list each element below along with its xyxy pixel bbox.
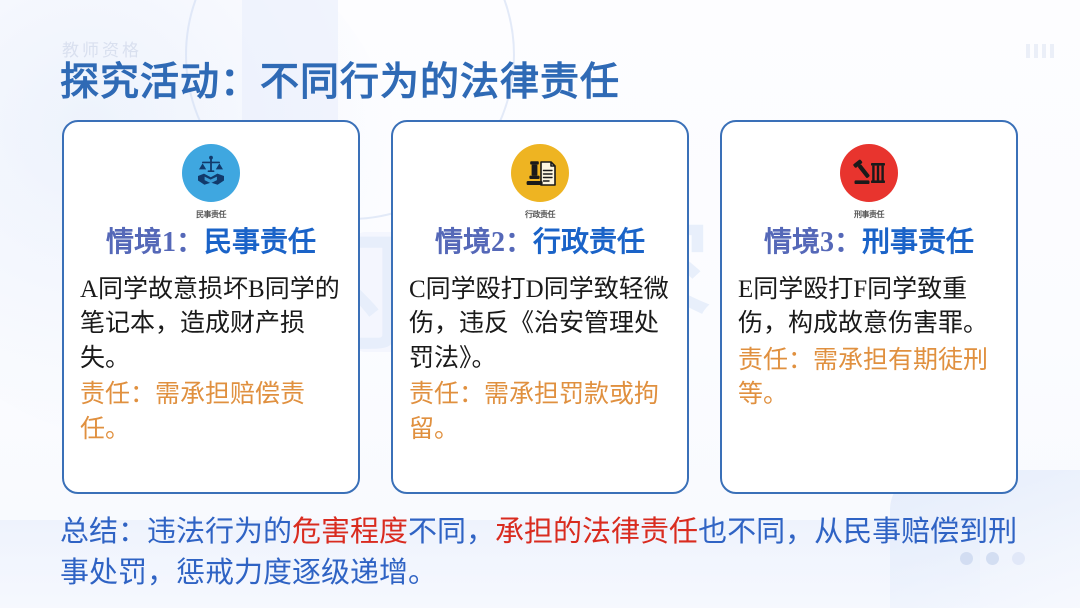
gavel-document-icon	[511, 144, 569, 202]
card-duty-criminal: 责任：需承担有期徒刑等。	[734, 344, 1004, 413]
card-heading-criminal: 情境3：刑事责任	[764, 228, 974, 259]
page-title: 探究活动：不同行为的法律责任	[60, 63, 620, 102]
background-tick-marks	[1026, 44, 1054, 58]
scales-handshake-icon	[182, 144, 240, 202]
icon-caption-administrative: 行政责任	[525, 209, 555, 220]
card-duty-civil: 责任：需承担赔偿责任。	[76, 378, 346, 447]
card-heading-label: 情境2：	[435, 227, 533, 258]
summary-text: 总结：违法行为的危害程度不同，承担的法律责任也不同，从民事赔偿到刑事处罚，惩戒力…	[60, 512, 1026, 594]
icon-caption-criminal: 刑事责任	[854, 209, 884, 220]
summary-part-1: 总结：违法行为的	[60, 516, 292, 548]
card-heading-name: 行政责任	[533, 227, 645, 258]
card-heading-label: 情境1：	[106, 227, 204, 258]
card-body-criminal: E同学殴打F同学致重伤，构成故意伤害罪。	[734, 273, 1004, 342]
slide-canvas: 内 容 教师资格 探究活动：不同行为的法律责任	[0, 0, 1080, 608]
scenario-card-civil[interactable]: 民事责任 情境1：民事责任 A同学故意损坏B同学的笔记本，造成财产损失。 责任：…	[62, 120, 360, 494]
gavel-prison-bars-icon	[840, 144, 898, 202]
card-body-administrative: C同学殴打D同学致轻微伤，违反《治安管理处罚法》。	[405, 273, 675, 377]
card-heading-name: 刑事责任	[862, 227, 974, 258]
card-heading-civil: 情境1：民事责任	[106, 228, 316, 259]
summary-part-2: 不同，	[408, 516, 495, 548]
card-duty-administrative: 责任：需承担罚款或拘留。	[405, 378, 675, 447]
scenario-card-administrative[interactable]: 行政责任 情境2：行政责任 C同学殴打D同学致轻微伤，违反《治安管理处罚法》。 …	[391, 120, 689, 494]
scenario-card-row: 民事责任 情境1：民事责任 A同学故意损坏B同学的笔记本，造成财产损失。 责任：…	[62, 120, 1020, 494]
corner-watermark: 教师资格	[62, 36, 142, 61]
summary-highlight-1: 危害程度	[292, 516, 408, 548]
card-heading-administrative: 情境2：行政责任	[435, 228, 645, 259]
card-heading-label: 情境3：	[764, 227, 862, 258]
icon-caption-civil: 民事责任	[196, 209, 226, 220]
icon-block-criminal: 刑事责任	[836, 140, 902, 206]
card-body-civil: A同学故意损坏B同学的笔记本，造成财产损失。	[76, 273, 346, 377]
scenario-card-criminal[interactable]: 刑事责任 情境3：刑事责任 E同学殴打F同学致重伤，构成故意伤害罪。 责任：需承…	[720, 120, 1018, 494]
icon-block-civil: 民事责任	[178, 140, 244, 206]
card-heading-name: 民事责任	[204, 227, 316, 258]
icon-block-administrative: 行政责任	[507, 140, 573, 206]
summary-highlight-2: 承担的法律责任	[495, 516, 698, 548]
